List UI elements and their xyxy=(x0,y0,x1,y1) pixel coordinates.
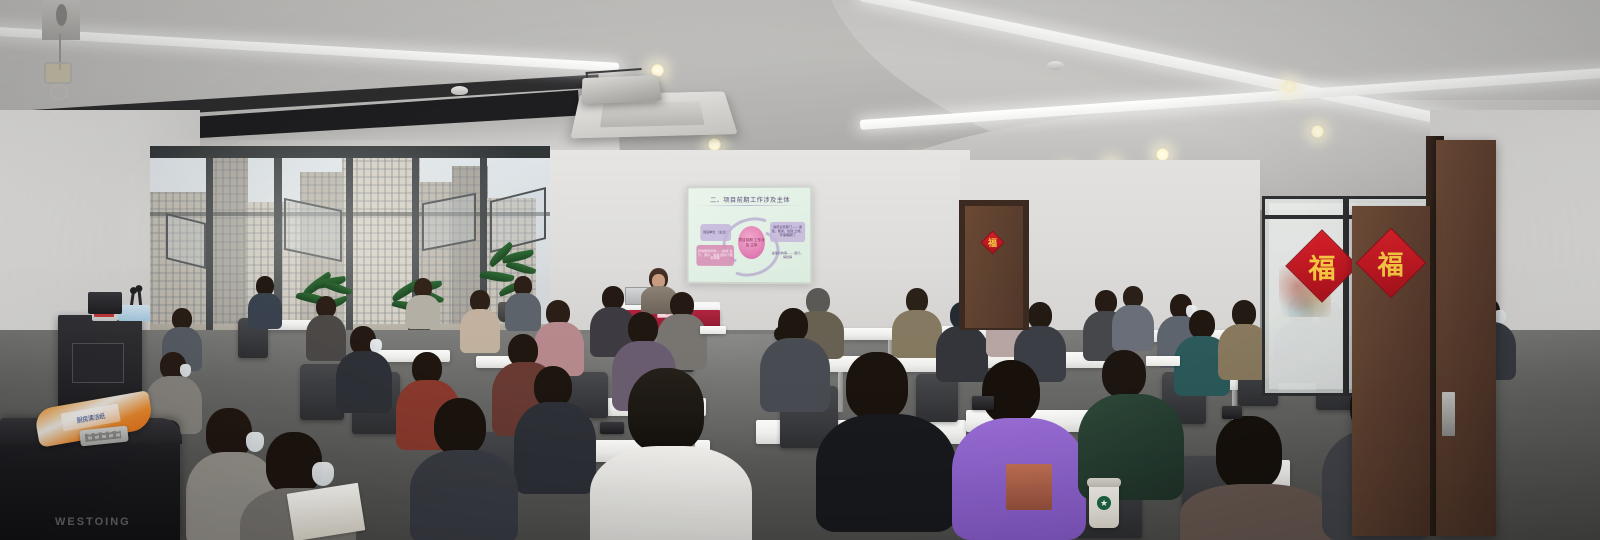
fu-character: 福 xyxy=(1309,247,1336,286)
smartphone[interactable] xyxy=(972,396,994,410)
desk-leg xyxy=(838,372,843,412)
notebook[interactable] xyxy=(287,483,366,540)
notebook[interactable] xyxy=(1146,356,1180,366)
notebook[interactable] xyxy=(700,326,726,334)
face-mask xyxy=(312,462,334,486)
slide-center-label: 项目前期 工作涉及 主体 xyxy=(738,226,765,259)
face-mask xyxy=(246,432,264,452)
face-mask xyxy=(180,364,191,377)
slide-box-bottom-right: 金融机构等—— 银行、保险等 xyxy=(770,248,805,264)
window-vent[interactable] xyxy=(166,213,206,269)
slide-content: 二、项目前期工作涉及主体 建设单位 （业主） 政府主管部门—— 发改、规资、住建… xyxy=(689,188,811,283)
cup-lid xyxy=(1087,478,1121,487)
ceiling-projector xyxy=(581,75,662,104)
slide-title-rule xyxy=(695,205,803,206)
slide-box-top-left: 建设单位 （业主） xyxy=(700,224,731,241)
tissue-box xyxy=(118,305,150,321)
conference-room-photo: 二、项目前期工作涉及主体 建设单位 （业主） 政府主管部门—— 发改、规资、住建… xyxy=(0,0,1600,540)
downlight-icon xyxy=(1282,79,1297,94)
projection-screen: 二、项目前期工作涉及主体 建设单位 （业主） 政府主管部门—— 发改、规资、住建… xyxy=(687,186,813,285)
slide-title: 二、项目前期工作涉及主体 xyxy=(696,195,804,204)
interior-door[interactable] xyxy=(965,206,1023,328)
smoke-detector-icon xyxy=(1047,61,1064,70)
window-mullion xyxy=(346,146,353,356)
smartphone[interactable] xyxy=(600,422,624,434)
coffee-cup[interactable]: ★ xyxy=(1089,482,1119,528)
window-head-frame xyxy=(150,146,550,158)
remote-buttons xyxy=(85,430,122,442)
av-panel[interactable] xyxy=(72,343,124,383)
door-handle[interactable] xyxy=(1442,392,1455,436)
amplifier-unit xyxy=(88,292,122,314)
slide-box-top-right: 政府主管部门—— 发改、规资、住建 土地、环保等部门 xyxy=(770,222,805,242)
open-door[interactable] xyxy=(1436,140,1496,536)
fu-character: 福 xyxy=(988,236,997,249)
window-mullion xyxy=(206,146,213,356)
screen-hook xyxy=(44,62,72,84)
fu-character: 福 xyxy=(1378,244,1404,281)
slide-box-bottom-left: 咨询服务机构——勘察 设计、造价、监理 招标代理机构等 xyxy=(696,245,734,266)
hoodie-graphic xyxy=(1006,464,1052,510)
smoke-detector-icon xyxy=(451,86,468,95)
speaker-brand-label: WESTOING xyxy=(55,516,131,528)
coiled-cable xyxy=(50,84,68,100)
glass-mullion xyxy=(1343,199,1349,393)
coffee-logo-icon: ★ xyxy=(1097,496,1111,510)
ac-grille xyxy=(600,101,704,127)
downlight-icon xyxy=(1310,124,1325,139)
screen-bracket xyxy=(42,0,80,40)
smartphone[interactable] xyxy=(1222,406,1242,419)
